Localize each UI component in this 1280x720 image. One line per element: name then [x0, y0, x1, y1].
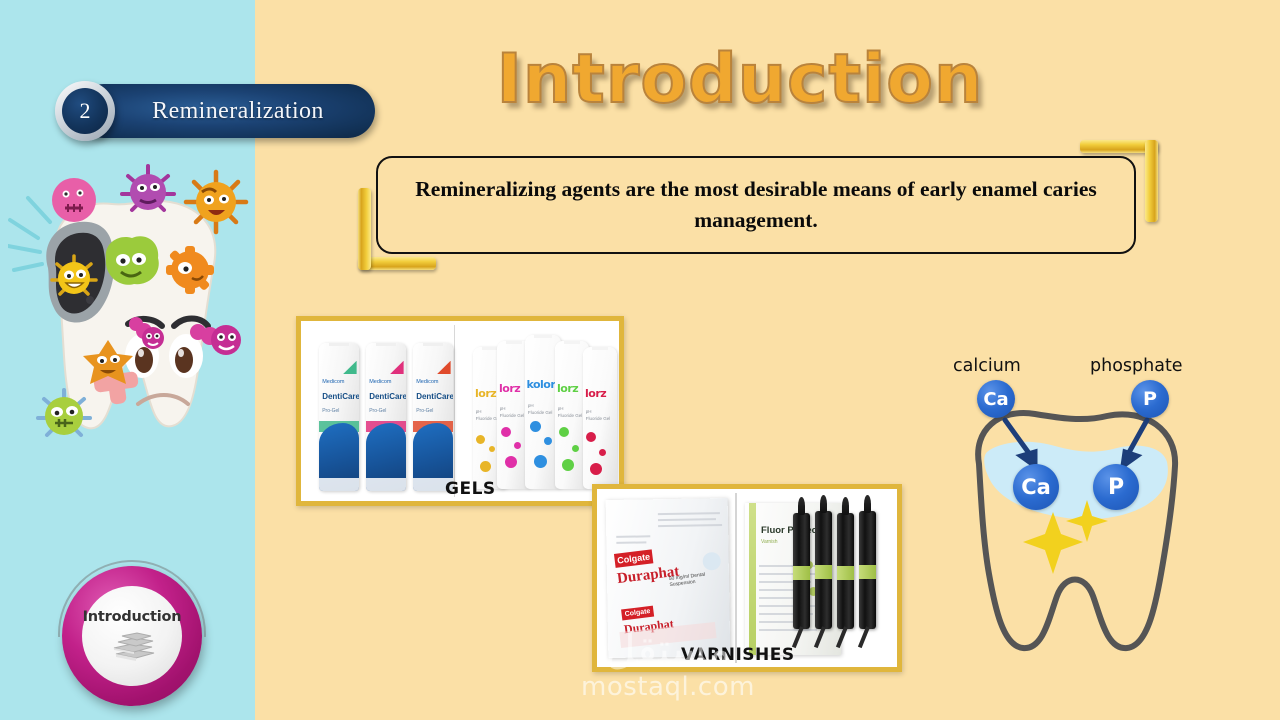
- books-stack-icon: [104, 628, 160, 664]
- photo-varnishes-caption: VARNISHES: [681, 645, 795, 665]
- photo-gels-caption: GELS: [445, 479, 496, 499]
- photo-gels: MedicomDentiCarePro-Gel MedicomDentiCare…: [296, 316, 624, 506]
- syringe: [793, 513, 810, 629]
- photo-gels-image: MedicomDentiCarePro-Gel MedicomDentiCare…: [301, 321, 619, 501]
- section-number-badge: 2: [55, 81, 115, 141]
- product-bottle: MedicomDentiCarePro-Gel: [413, 343, 453, 491]
- syringe: [837, 513, 854, 629]
- product-box-duraphat: Colgate Duraphat 50 mg/ml Dental Suspens…: [606, 498, 731, 658]
- ion-calcium-free: Ca: [977, 380, 1015, 418]
- product-bottle: MedicomDentiCarePro-Gel: [319, 343, 359, 491]
- ion-phosphate-free: P: [1131, 380, 1169, 418]
- ion-phosphate-deposited: P: [1093, 464, 1139, 510]
- product-bottle: lorz pHFluoride Gel: [583, 347, 617, 489]
- badge-label: Introduction: [83, 609, 182, 625]
- introduction-badge[interactable]: Introduction: [62, 566, 202, 706]
- presentation-slide: Remineralization 2 Introduction Reminera…: [0, 0, 1280, 720]
- syringe: [815, 511, 832, 629]
- statement-container: Remineralizing agents are the most desir…: [358, 140, 1158, 270]
- cartoon-decayed-tooth-illustration: [8, 160, 258, 450]
- section-title: Remineralization: [123, 84, 353, 138]
- page-title: Introduction: [470, 32, 1010, 127]
- remineralization-diagram: calcium phosphate Ca P Ca P: [935, 352, 1215, 672]
- mineral-layer: [984, 442, 1168, 520]
- statement-text: Remineralizing agents are the most desir…: [412, 174, 1100, 235]
- section-header: Remineralization 2: [55, 84, 375, 138]
- photo-varnishes: Colgate Duraphat 50 mg/ml Dental Suspens…: [592, 484, 902, 672]
- badge-inner: Introduction: [82, 586, 182, 686]
- photo-varnishes-image: Colgate Duraphat 50 mg/ml Dental Suspens…: [597, 489, 897, 667]
- syringe: [859, 511, 876, 629]
- ion-calcium-deposited: Ca: [1013, 464, 1059, 510]
- product-bottle: MedicomDentiCarePro-Gel: [366, 343, 406, 491]
- statement-box: Remineralizing agents are the most desir…: [376, 156, 1136, 254]
- section-number: 2: [62, 88, 108, 134]
